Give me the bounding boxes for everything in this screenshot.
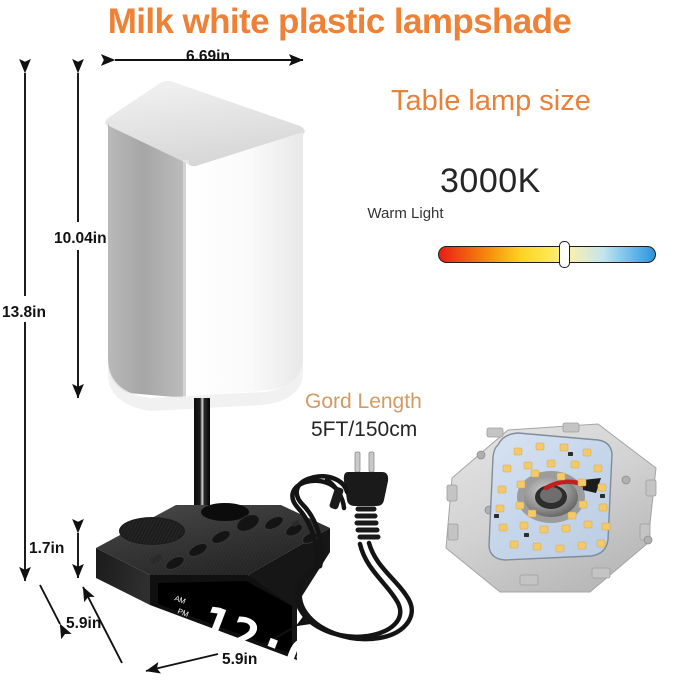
color-temperature-caption: Warm Light (0, 205, 679, 222)
dimension-label-shade-width: 6.69in (186, 48, 230, 66)
page-title: Milk white plastic lampshade (0, 2, 679, 42)
lampshade-graphic (105, 81, 305, 411)
color-temperature-slider-handle[interactable] (559, 241, 570, 268)
product-infographic: 12:00 AM PM AL1 AL2 Milk white plastic l… (0, 0, 679, 685)
arrow-base-depth-b (40, 585, 60, 624)
color-temperature-caption-text: Warm Light (367, 205, 443, 222)
led-module-graphic (446, 423, 656, 592)
cord-length-value: 5FT/150cm (311, 418, 417, 442)
dimension-label-base-height: 1.7in (29, 540, 64, 558)
dimension-label-base-depth: 5.9in (66, 615, 101, 633)
clock-indicator-al1: AL1 (179, 619, 195, 632)
arrow-base-width-b (146, 654, 218, 671)
table-lamp-size-heading: Table lamp size (391, 85, 591, 118)
cord-length-label: Gord Length (305, 390, 422, 414)
color-temperature-value: 3000K (440, 162, 541, 201)
color-temperature-slider[interactable] (438, 246, 656, 263)
dimension-label-total-height: 13.8in (2, 304, 46, 322)
dimension-label-shade-height: 10.04in (54, 230, 107, 248)
dimension-label-base-width: 5.9in (222, 651, 257, 669)
